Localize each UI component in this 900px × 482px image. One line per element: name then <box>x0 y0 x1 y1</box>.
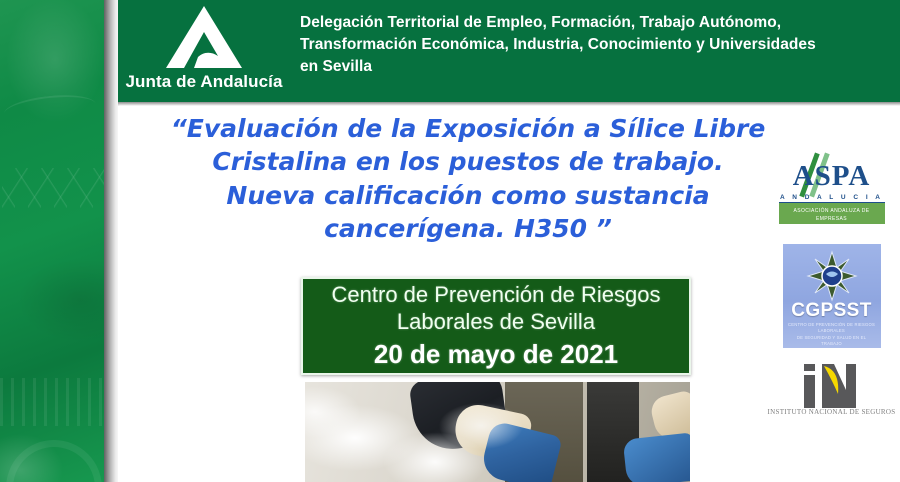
aspa-band-line-1: ASOCIACIÓN ANDALUZA DE EMPRESAS <box>779 203 885 223</box>
event-venue-line-1: Centro de Prevención de Riesgos <box>332 282 661 308</box>
title-line-3: Nueva calificación como sustancia <box>158 179 778 212</box>
department-line-1: Delegación Territorial de Empleo, Formac… <box>300 12 888 34</box>
insst-logo: INSTITUTO NACIONAL DE SEGUROS <box>767 362 897 430</box>
cgpsst-subtitle: CENTRO DE PREVENCIÓN DE RIESGOS LABORALE… <box>787 322 877 347</box>
slide-header: Junta de Andalucía Delegación Territoria… <box>118 0 900 102</box>
photo-silica-dust-cloud <box>305 386 555 482</box>
logo-slot-cgpsst: CGPSST CENTRO DE PREVENCIÓN DE RIESGOS L… <box>763 244 900 348</box>
band-ring <box>6 440 102 482</box>
junta-de-andalucia-a-logo <box>156 4 252 70</box>
title-line-4: cancerígena. H350 ” <box>158 212 778 245</box>
brand-block: Junta de Andalucía <box>118 0 290 102</box>
photo-cutting-tool-2 <box>623 432 690 482</box>
cgpsst-wordmark: CGPSST <box>783 300 881 322</box>
department-line-3: en Sevilla <box>300 56 888 78</box>
event-info-box: Centro de Prevención de Riesgos Laborale… <box>301 277 691 375</box>
cgpsst-star-emblem-icon <box>805 250 859 302</box>
band-zigzag <box>2 168 106 208</box>
logo-slot-aspa: ASPA A N D A L U C I A ASOCIACIÓN ANDALU… <box>763 156 900 230</box>
insst-subtitle: INSTITUTO NACIONAL DE SEGUROS <box>767 408 897 416</box>
cgpsst-subtitle-line-1: CENTRO DE PREVENCIÓN DE RIESGOS LABORALE… <box>787 322 877 335</box>
aspa-band-line-2: DE PREVENCIÓN Y SALUD LABORAL <box>779 223 885 236</box>
decorative-green-band <box>0 0 104 482</box>
event-date: 20 de mayo de 2021 <box>374 339 618 370</box>
photo-scene <box>305 382 690 482</box>
logo-column: ASPA A N D A L U C I A ASOCIACIÓN ANDALU… <box>763 156 900 444</box>
slide-body: “Evaluación de la Exposición a Sílice Li… <box>118 106 900 482</box>
title-line-1: “Evaluación de la Exposición a Sílice Li… <box>158 112 778 145</box>
department-title: Delegación Territorial de Empleo, Formac… <box>290 0 900 78</box>
band-glyph-layer <box>0 0 104 482</box>
aspa-logo: ASPA A N D A L U C I A ASOCIACIÓN ANDALU… <box>773 156 891 230</box>
aspa-subtitle: A N D A L U C I A <box>773 194 891 201</box>
brand-name: Junta de Andalucía <box>118 72 290 92</box>
cgpsst-subtitle-line-2: DE SEGURIDAD Y SALUD EN EL TRABAJO <box>787 335 877 348</box>
band-bars <box>0 378 104 426</box>
presentation-slide: Junta de Andalucía Delegación Territoria… <box>0 0 900 482</box>
slide-title: “Evaluación de la Exposición a Sílice Li… <box>158 112 778 245</box>
department-line-2: Transformación Económica, Industria, Con… <box>300 34 888 56</box>
insst-in-monogram-icon <box>794 364 870 408</box>
cgpsst-logo: CGPSST CENTRO DE PREVENCIÓN DE RIESGOS L… <box>783 244 881 348</box>
worker-photo <box>305 382 690 482</box>
aspa-green-band: ASOCIACIÓN ANDALUZA DE EMPRESAS DE PREVE… <box>779 202 885 224</box>
logo-slot-insst: INSTITUTO NACIONAL DE SEGUROS <box>763 362 900 430</box>
band-wave <box>3 91 97 126</box>
title-line-2: Cristalina en los puestos de trabajo. <box>158 145 778 178</box>
aspa-wordmark: ASPA <box>773 160 891 193</box>
event-venue-line-2: Laborales de Sevilla <box>397 309 595 335</box>
